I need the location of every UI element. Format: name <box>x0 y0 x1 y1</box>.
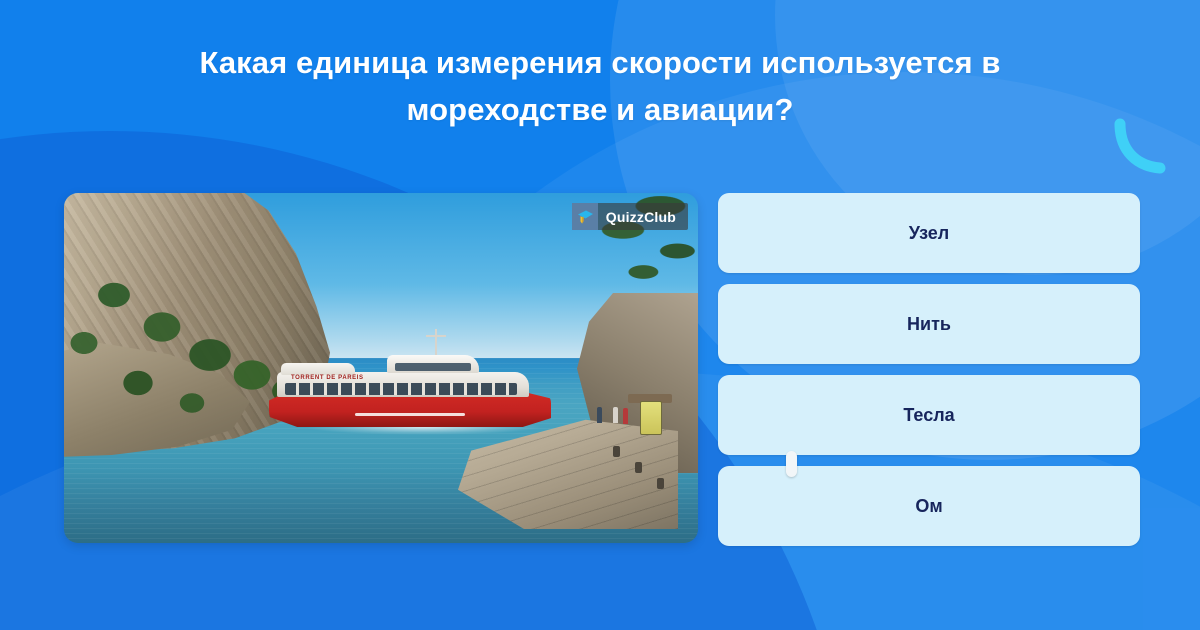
graduation-cap-icon <box>572 203 598 230</box>
answer-option-2[interactable]: Нить <box>718 284 1140 364</box>
ferry-boat: TORRENT DE PAREIS <box>269 353 559 433</box>
boat-windows <box>285 383 517 395</box>
boat-bridge-window <box>395 363 471 371</box>
answer-option-4-label: Ом <box>915 496 942 517</box>
bollard-icon <box>613 446 620 457</box>
bollard-icon <box>635 462 642 473</box>
boat-mast <box>435 329 437 355</box>
answer-option-4[interactable]: Ом <box>718 466 1140 546</box>
boat-name-label: TORRENT DE PAREIS <box>291 375 364 381</box>
person-figure <box>613 407 618 423</box>
question-header: Какая единица измерения скорости использ… <box>0 0 1200 172</box>
bollard-icon <box>657 478 664 489</box>
boat-forward-deck <box>281 363 355 375</box>
person-figure <box>597 407 602 423</box>
information-kiosk <box>640 401 662 435</box>
quiz-card: Какая единица измерения скорости использ… <box>0 0 1200 630</box>
watermark: QuizzClub <box>572 203 688 230</box>
answer-option-2-label: Нить <box>907 314 951 335</box>
person-figure <box>623 408 628 424</box>
boat-hull <box>269 393 551 427</box>
watermark-label: QuizzClub <box>606 209 676 225</box>
answer-option-3[interactable]: Тесла <box>718 375 1140 455</box>
question-photo: TORRENT DE PAREIS QuizzClub <box>64 193 698 543</box>
scroll-thumb[interactable] <box>786 451 797 477</box>
question-image-card: TORRENT DE PAREIS QuizzClub <box>64 193 698 543</box>
answer-option-1-label: Узел <box>909 223 949 244</box>
hull-stripe <box>355 413 465 416</box>
answer-option-3-label: Тесла <box>903 405 954 426</box>
answer-option-1[interactable]: Узел <box>718 193 1140 273</box>
question-title: Какая единица измерения скорости использ… <box>120 39 1080 133</box>
boat-mast-crossbar <box>426 335 446 337</box>
answer-options-list: Узел Нить Тесла Ом <box>718 193 1140 557</box>
